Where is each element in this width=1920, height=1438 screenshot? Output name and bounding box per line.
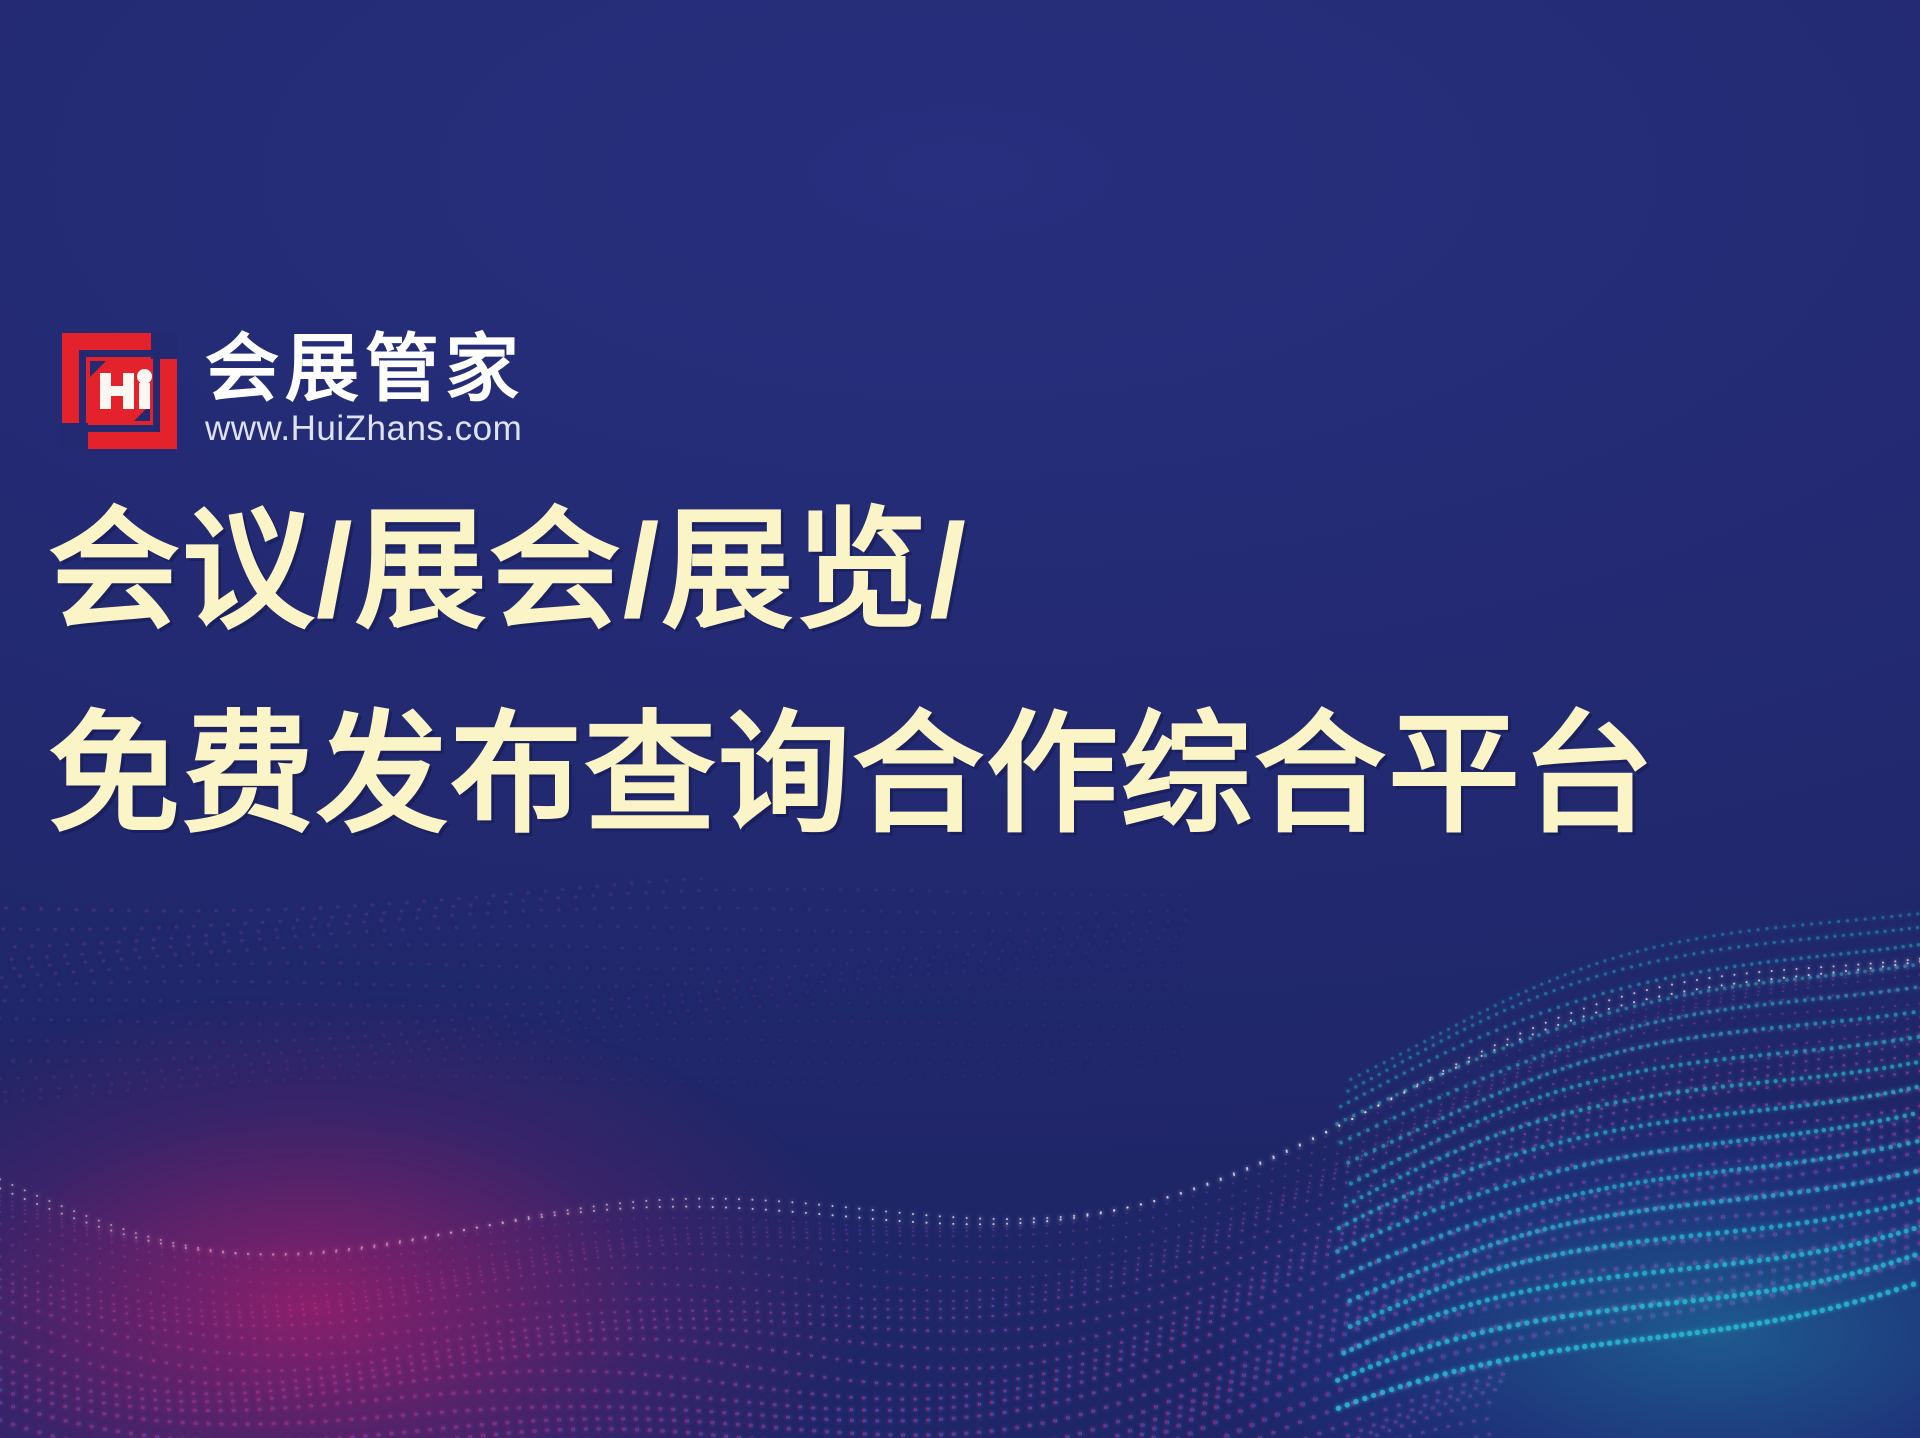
headline-block: 会议/展会/展览/ 免费发布查询合作综合平台 [48, 505, 1848, 841]
logo-text-group: 会展管家 www.HuiZhans.com [205, 333, 525, 449]
logo-letter-i-dot [137, 369, 152, 384]
headline-line-1: 会议/展会/展览/ [48, 505, 1848, 637]
banner-canvas: 会展管家 www.HuiZhans.com 会议/展会/展览/ 免费发布查询合作… [0, 0, 1920, 1438]
particle-wave-graphic [0, 878, 1920, 1438]
headline-line-2: 免费发布查询合作综合平台 [48, 709, 1848, 841]
logo-letter-h-crossbar [100, 386, 134, 396]
logo-mark-icon [62, 333, 177, 449]
brand-logo[interactable]: 会展管家 www.HuiZhans.com [62, 333, 525, 449]
logo-letter-i-stem [139, 383, 150, 409]
brand-url[interactable]: www.HuiZhans.com [205, 409, 525, 449]
brand-name-cn: 会展管家 [205, 335, 525, 403]
wave-dots-svg [0, 878, 1920, 1438]
